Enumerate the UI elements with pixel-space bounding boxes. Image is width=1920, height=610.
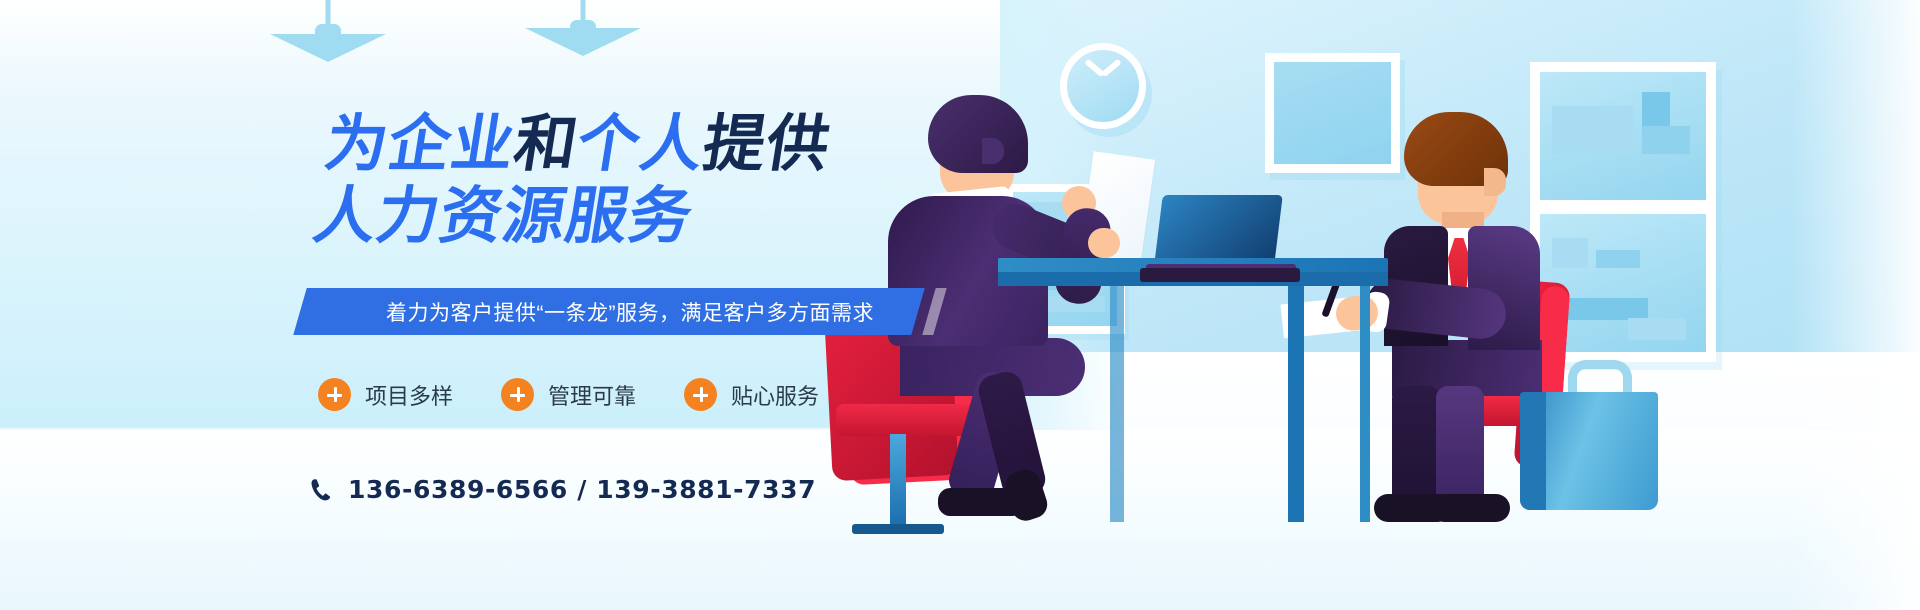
briefcase-side-panel	[1520, 392, 1546, 510]
feature-label: 项目多样	[365, 379, 453, 411]
headline-line-2: 人力资源服务	[309, 184, 959, 248]
person-right-ear	[1484, 168, 1506, 196]
headline-segment-3: 个人	[572, 107, 710, 180]
plus-icon	[318, 378, 351, 411]
subtitle-text: 着力为客户提供“一条龙”服务，满足客户多方面需求	[330, 288, 930, 335]
page-title: 为企业和个人提供 人力资源服务	[309, 112, 971, 249]
feature-item: 管理可靠	[501, 378, 636, 411]
office-illustration	[1000, 0, 1920, 610]
desk-leg	[1110, 286, 1124, 522]
plus-icon	[501, 378, 534, 411]
headline-segment-4: 提供	[698, 107, 836, 180]
feature-list: 项目多样 管理可靠 贴心服务	[318, 378, 819, 411]
headline-segment-2: 和	[509, 107, 584, 180]
plus-icon	[684, 378, 717, 411]
desk-leg	[1360, 286, 1370, 522]
hero-banner: 为企业和个人提供 人力资源服务 着力为客户提供“一条龙”服务，满足客户多方面需求…	[0, 0, 1920, 610]
feature-item: 项目多样	[318, 378, 453, 411]
phone-number: 136-6389-6566 / 139-3881-7337	[348, 475, 816, 504]
banner-text-content: 为企业和个人提供 人力资源服务 着力为客户提供“一条龙”服务，满足客户多方面需求…	[0, 0, 1000, 610]
desk-leg	[1288, 286, 1304, 522]
feature-item: 贴心服务	[684, 378, 819, 411]
feature-label: 贴心服务	[731, 379, 819, 411]
phone-icon	[310, 478, 332, 502]
laptop-base	[1140, 268, 1300, 282]
contact-phone[interactable]: 136-6389-6566 / 139-3881-7337	[310, 475, 816, 504]
person-right-shoe	[1430, 494, 1510, 522]
person-left-hand	[1088, 228, 1120, 258]
headline-segment-1: 为企业	[320, 107, 521, 180]
feature-label: 管理可靠	[548, 379, 636, 411]
